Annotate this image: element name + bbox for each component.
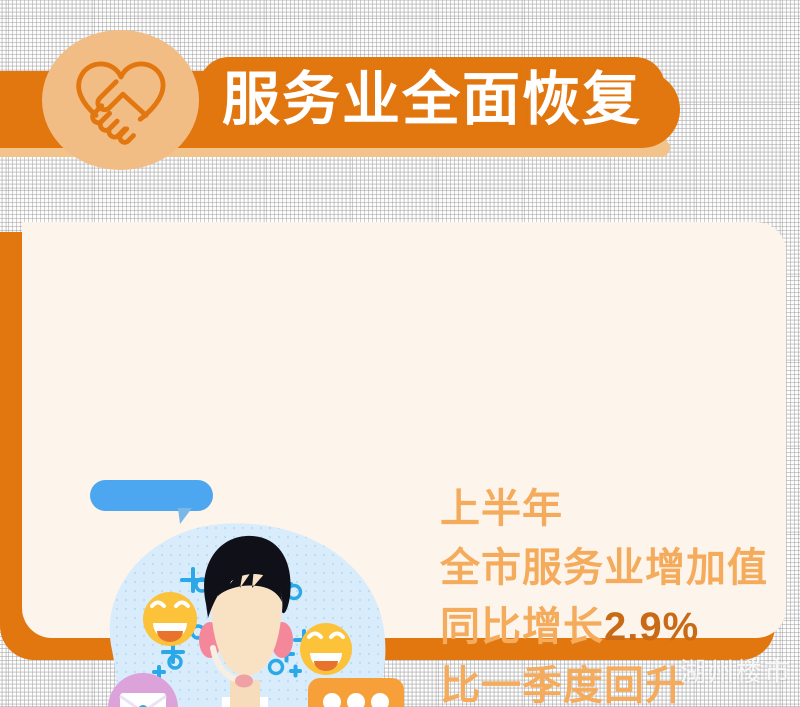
content-card: 上半年 全市服务业增加值 同比增长2.9% 比一季度回升 3.8个百分点 居全省…	[22, 222, 786, 638]
customer-service-agent-illustration	[70, 472, 420, 707]
handshake-heart-icon	[62, 50, 180, 150]
stat-line-3: 同比增长2.9%	[440, 598, 790, 657]
blue-speech-bubble	[90, 480, 213, 524]
page-title: 服务业全面恢复	[199, 57, 665, 143]
stat-line-1: 上半年	[440, 480, 790, 539]
smiley-emoji-right	[300, 623, 352, 675]
orange-chat-bubble	[308, 678, 404, 707]
infographic-canvas: 服务业全面恢复	[0, 0, 800, 707]
smiley-emoji-left	[143, 592, 197, 646]
stat-line-2: 全市服务业增加值	[440, 539, 790, 598]
growth-rate-value: 2.9%	[604, 605, 699, 649]
watermark: 湖州楼市	[680, 652, 792, 689]
